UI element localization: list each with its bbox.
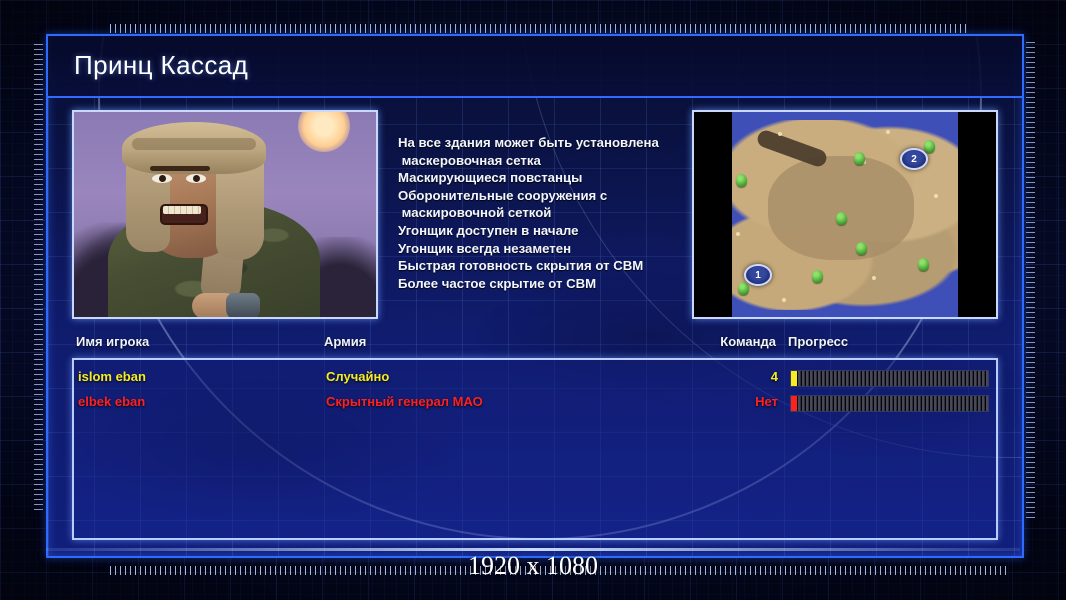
ruler-left: [34, 44, 43, 514]
description-line: На все здания может быть установлена: [398, 134, 694, 152]
resolution-label: 1920 x 1080: [0, 551, 1066, 581]
player-team: Нет: [694, 394, 778, 409]
map-tree-marker: [738, 282, 749, 295]
player-progress-bar: [790, 370, 989, 387]
map-tree-marker: [856, 242, 867, 255]
player-army: Случайно: [326, 369, 389, 384]
map-letterbox-right: [958, 112, 996, 317]
column-header-army: Армия: [324, 334, 366, 349]
map-resource-dot: [886, 130, 890, 134]
portrait-eye-right: [186, 174, 206, 183]
main-panel: Принц Кассад: [46, 34, 1024, 558]
map-preview[interactable]: 12: [692, 110, 998, 319]
map-letterbox-left: [694, 112, 732, 317]
map-tree-marker: [918, 258, 929, 271]
description-line: Быстрая готовность скрытия от СВМ: [398, 257, 694, 275]
map-start-position-1[interactable]: 1: [744, 264, 772, 286]
map-tree-marker: [812, 270, 823, 283]
description-line: Маскирующиеся повстанцы: [398, 169, 694, 187]
portrait-held-object: [226, 293, 260, 319]
general-portrait: [72, 110, 378, 319]
progress-track-ticks: [797, 396, 988, 411]
description-line: Оборонительные сооружения с: [398, 187, 694, 205]
ruler-right: [1026, 42, 1035, 522]
map-plateau: [768, 156, 914, 260]
column-header-progress: Прогресс: [788, 334, 848, 349]
map-resource-dot: [934, 194, 938, 198]
map-tree-marker: [924, 140, 935, 153]
map-resource-dot: [872, 276, 876, 280]
table-row[interactable]: elbek ebanСкрытный генерал МАОНет: [74, 391, 996, 415]
map-start-position-2[interactable]: 2: [900, 148, 928, 170]
column-header-team: Команда: [692, 334, 776, 349]
description-line: Угонщик всегда незаметен: [398, 240, 694, 258]
table-row[interactable]: islom ebanСлучайно4: [74, 366, 996, 390]
description-line: Угонщик доступен в начале: [398, 222, 694, 240]
game-lobby-screen: Принц Кассад: [0, 0, 1066, 600]
map-tree-marker: [736, 174, 747, 187]
portrait-eye-left: [152, 174, 172, 183]
map-tree-marker: [836, 212, 847, 225]
player-army: Скрытный генерал МАО: [326, 394, 483, 409]
player-table-header: Имя игрока Армия Команда Прогресс: [72, 334, 994, 356]
description-line: маскировочной сеткой: [398, 204, 694, 222]
map-tree-marker: [854, 152, 865, 165]
portrait-teeth: [163, 206, 201, 214]
player-progress-bar: [790, 395, 989, 412]
map-resource-dot: [736, 232, 740, 236]
map-resource-dot: [782, 298, 786, 302]
map-resource-dot: [778, 132, 782, 136]
progress-track-ticks: [797, 371, 988, 386]
player-team: 4: [694, 369, 778, 384]
title-bar: Принц Кассад: [48, 36, 1022, 98]
description-line: Более частое скрытие от СВМ: [398, 275, 694, 293]
ruler-top: [110, 24, 970, 33]
description-line: маскеровочная сетка: [398, 152, 694, 170]
content-area: На все здания может быть установлена мас…: [72, 110, 994, 322]
column-header-name: Имя игрока: [76, 334, 149, 349]
player-list[interactable]: islom ebanСлучайно4elbek ebanСкрытный ге…: [72, 358, 998, 540]
portrait-brow: [150, 166, 210, 171]
player-name: elbek eban: [78, 394, 145, 409]
player-name: islom eban: [78, 369, 146, 384]
page-title: Принц Кассад: [74, 50, 248, 81]
general-description: На все здания может быть установлена мас…: [390, 110, 694, 339]
